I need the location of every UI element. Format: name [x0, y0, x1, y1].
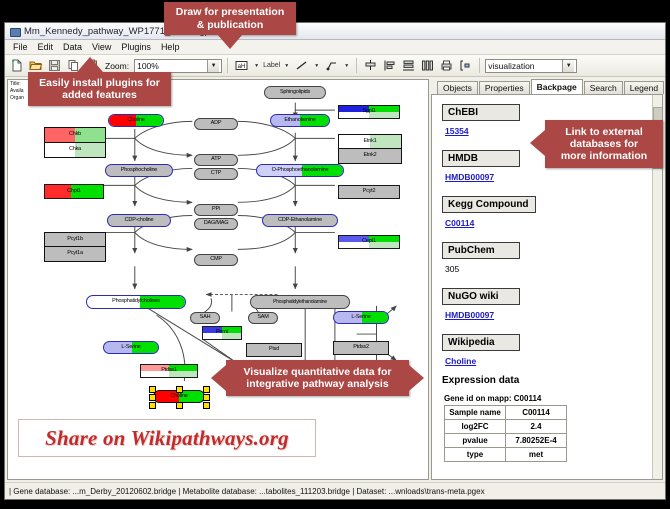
gene-id-line: Gene id on mapp: C00114 — [444, 394, 662, 403]
toolbar-separator — [356, 58, 357, 73]
node-label: Pcyt1a — [67, 251, 83, 257]
section-header-hmdb: HMDB — [442, 150, 520, 167]
selection-handle[interactable] — [203, 394, 210, 401]
menu-item-edit[interactable]: Edit — [33, 42, 59, 52]
expression-table: Sample name C00114 log2FC 2.4 pvalue 7.8… — [444, 405, 567, 462]
gene-node-pemt[interactable]: Pemt — [202, 326, 242, 340]
gene-node-ptdss1[interactable]: Ptdss1 — [140, 364, 198, 378]
metabolite-node-phosphatidylethanolamine[interactable]: Phosphatidylethanolamine — [250, 295, 350, 309]
gene-node-sgpl1[interactable]: Sgpl1 — [338, 105, 400, 119]
node-label: Ethanolamine — [284, 118, 315, 124]
gene-node-pcyt2[interactable]: Pcyt2 — [338, 185, 400, 199]
datanode-icon[interactable]: aH — [233, 57, 250, 74]
node-label: ATP — [211, 157, 221, 163]
interaction-icon[interactable] — [323, 57, 340, 74]
wikipedia-link[interactable]: Choline — [445, 356, 476, 366]
chevron-down-icon[interactable]: ▼ — [207, 60, 219, 72]
metabolite-node-sphingolipids[interactable]: Sphingolipids — [264, 86, 326, 99]
cell-value: C00114 — [506, 406, 567, 420]
section-header-pubchem: PubChem — [442, 242, 520, 259]
gene-node-ptdss2[interactable]: Ptdss2 — [333, 341, 389, 355]
menu-item-help[interactable]: Help — [156, 42, 185, 52]
callout-arrow-up-plugins — [77, 57, 103, 72]
node-label: Phosphatidylcholines — [112, 299, 160, 305]
pubchem-value: 305 — [445, 264, 459, 274]
cell-value: 7.80252E-4 — [506, 434, 567, 448]
tab-legend[interactable]: Legend — [624, 81, 664, 94]
section-header-kegg-compound: Kegg Compound — [442, 196, 536, 213]
selection-handle[interactable] — [176, 402, 183, 409]
metabolite-node-cdp-ethanolamine[interactable]: CDP-Ethanolamine — [262, 214, 338, 227]
section-header-wikipedia: Wikipedia — [442, 334, 520, 351]
status-bar: | Gene database: ...m_Derby_20120602.bri… — [5, 482, 665, 499]
node-label: Pcyt2 — [363, 189, 376, 195]
metabolite-node-phosphocholine[interactable]: Phosphocholine — [105, 164, 173, 177]
node-label: Cept1 — [362, 239, 376, 245]
metabolite-node-atp[interactable]: ATP — [194, 154, 238, 166]
selection-handle[interactable] — [203, 386, 210, 393]
distribute-icon[interactable] — [419, 57, 436, 74]
node-label: Choline — [170, 394, 187, 400]
svg-text:aH: aH — [238, 64, 246, 70]
gene-group-pcyt1[interactable]: Pcyt1b Pcyt1a — [44, 232, 106, 262]
gene-node-etnk2[interactable]: Etnk2 — [339, 149, 401, 163]
gene-node-chpt1[interactable]: Chpt1 — [44, 184, 104, 199]
visualization-value: visualization — [488, 61, 562, 71]
side-panel-tabs: Objects Properties Backpage Search Legen… — [431, 79, 663, 94]
node-label: Etnk1 — [363, 139, 376, 145]
node-label: Chka — [69, 147, 81, 153]
metabolite-node-phosphatidylcholines[interactable]: Phosphatidylcholines — [86, 295, 186, 309]
node-label: Pisd — [269, 347, 279, 353]
node-label: Chkb — [69, 132, 81, 138]
menu-item-plugins[interactable]: Plugins — [116, 42, 156, 52]
node-label: Ptdss2 — [353, 345, 369, 351]
interaction-dropdown-icon[interactable]: ▼ — [342, 58, 351, 74]
node-label: CDP-Ethanolamine — [278, 218, 322, 224]
label-dropdown-icon[interactable]: ▼ — [282, 58, 291, 74]
tab-backpage[interactable]: Backpage — [531, 79, 583, 94]
callout-arrow-right-visualize — [409, 365, 424, 391]
node-label: Chpt1 — [67, 189, 81, 195]
metabolite-node-l-serine-left[interactable]: L-Serine — [103, 341, 159, 354]
node-label: O-Phosphoethanolamine — [272, 168, 329, 174]
datanode-dropdown-icon[interactable]: ▼ — [252, 58, 261, 74]
pathway-info: Title: Availa Organ — [10, 81, 24, 102]
status-text: | Gene database: ...m_Derby_20120602.bri… — [9, 487, 485, 496]
section-header-chebi: ChEBI — [442, 104, 520, 121]
menu-item-file[interactable]: File — [8, 42, 33, 52]
metabolite-node-adp[interactable]: ADP — [194, 118, 238, 130]
node-label: CDP-choline — [125, 218, 154, 224]
pathway-info-title: Title: — [10, 81, 24, 88]
metabolite-node-cmp[interactable]: CMP — [194, 254, 238, 266]
tab-search[interactable]: Search — [584, 81, 623, 94]
gene-node-pcyt1b[interactable]: Pcyt1b — [45, 233, 105, 247]
callout-arrow-left-link — [530, 130, 545, 156]
metabolite-node-choline-top[interactable]: Choline — [108, 114, 164, 127]
table-row: Sample name C00114 — [445, 406, 567, 420]
gene-node-chkb[interactable]: Chkb — [45, 128, 105, 143]
cell-key: pvalue — [445, 434, 506, 448]
selection-handle[interactable] — [149, 394, 156, 401]
gene-node-chka[interactable]: Chka — [45, 143, 105, 158]
callout-draw-for-publication: Draw for presentation & publication — [164, 2, 296, 35]
menu-item-data[interactable]: Data — [58, 42, 87, 52]
node-label: ADP — [211, 121, 222, 127]
toolbar-separator — [479, 58, 480, 73]
gene-node-pisd[interactable]: Pisd — [246, 343, 302, 357]
node-label: Etnk2 — [363, 153, 376, 159]
node-label: L-Serine — [351, 315, 370, 321]
node-label: Ptdss1 — [161, 368, 177, 374]
chevron-down-icon[interactable]: ▼ — [562, 60, 574, 72]
callout-share-wikipathways: Share on Wikipathways.org — [18, 419, 316, 457]
metabolite-node-dag-mag[interactable]: DAG/MAG — [194, 218, 238, 230]
node-label: Phosphatidylethanolamine — [273, 300, 327, 305]
table-row: pvalue 7.80252E-4 — [445, 434, 567, 448]
selection-handle[interactable] — [176, 386, 183, 393]
node-label: Phosphocholine — [121, 168, 157, 174]
gene-node-etnk1[interactable]: Etnk1 — [339, 135, 401, 149]
pathway-info-availability: Availa — [10, 88, 24, 95]
nugo-link[interactable]: HMDB00097 — [445, 310, 494, 320]
gene-node-pcyt1a[interactable]: Pcyt1a — [45, 247, 105, 261]
node-label: Pcyt1b — [67, 237, 83, 243]
kegg-link[interactable]: C00114 — [445, 218, 474, 228]
zoom-label: Zoom: — [105, 61, 129, 71]
chebi-link[interactable]: 15354 — [445, 126, 469, 136]
menu-item-view[interactable]: View — [87, 42, 116, 52]
metabolite-node-cdp-choline[interactable]: CDP-choline — [107, 214, 171, 227]
node-label: DAG/MAG — [204, 221, 229, 227]
app-icon — [9, 26, 20, 37]
pathway-info-organism: Organ — [10, 95, 24, 102]
node-label: L-Serine — [121, 345, 140, 351]
visualization-combobox[interactable]: visualization ▼ — [485, 59, 577, 73]
cell-key: Sample name — [445, 406, 506, 420]
selection-handle[interactable] — [203, 402, 210, 409]
node-label: SAM — [257, 315, 268, 321]
share-text: Share on Wikipathways.org — [45, 426, 289, 451]
stack-icon[interactable] — [400, 57, 417, 74]
metabolite-node-sam[interactable]: SAM — [248, 312, 278, 324]
zoom-value: 100% — [137, 61, 207, 71]
metabolite-node-l-serine-right[interactable]: L-Serine — [333, 311, 389, 324]
node-label: Sgpl1 — [362, 109, 375, 115]
metabolite-node-ppi[interactable]: PPi — [194, 204, 238, 216]
align-left-icon[interactable] — [381, 57, 398, 74]
align-icon[interactable] — [362, 57, 379, 74]
cell-key: type — [445, 448, 506, 462]
metabolite-node-o-phosphoethanolamine[interactable]: O-Phosphoethanolamine — [256, 164, 344, 177]
callout-install-plugins: Easily install plugins for added feature… — [28, 72, 171, 106]
section-header-nugo-wiki: NuGO wiki — [442, 288, 520, 305]
tab-properties[interactable]: Properties — [479, 81, 530, 94]
node-label: Choline — [127, 118, 144, 124]
table-row: log2FC 2.4 — [445, 420, 567, 434]
zoom-combobox[interactable]: 100% ▼ — [134, 59, 222, 73]
metabolite-node-ctp[interactable]: CTP — [194, 168, 238, 180]
callout-arrow-left-visualize — [211, 365, 226, 391]
bracket-icon[interactable] — [457, 57, 474, 74]
node-label: Pemt — [216, 330, 228, 336]
title-bar: Mm_Kennedy_pathway_WP1771_45176.gpml — [5, 23, 665, 40]
new-file-icon[interactable] — [8, 57, 25, 74]
cell-value: met — [506, 448, 567, 462]
gene-group-chk[interactable]: Chkb Chka — [44, 127, 106, 158]
selection-handle[interactable] — [149, 386, 156, 393]
node-label: Sphingolipids — [280, 90, 310, 96]
gene-node-cept1[interactable]: Cept1 — [338, 235, 400, 249]
table-row: type met — [445, 448, 567, 462]
toolbar-separator — [227, 58, 228, 73]
print-icon[interactable] — [438, 57, 455, 74]
menu-bar: File Edit Data View Plugins Help — [5, 40, 665, 55]
selection-handle[interactable] — [149, 402, 156, 409]
node-label: CTP — [211, 171, 221, 177]
node-label: CMP — [210, 257, 222, 263]
screenshot-root: Mm_Kennedy_pathway_WP1771_45176.gpml Fil… — [0, 0, 670, 509]
callout-visualize-quantitative-data: Visualize quantitative data for integrat… — [226, 360, 409, 396]
line-dropdown-icon[interactable]: ▼ — [312, 58, 321, 74]
selected-node-group[interactable]: Choline — [148, 385, 210, 407]
node-label: PPi — [212, 207, 220, 213]
cell-key: log2FC — [445, 420, 506, 434]
callout-link-external-databases: Link to external databases for more info… — [545, 120, 663, 168]
expression-data-title: Expression data — [442, 375, 662, 386]
label-icon[interactable]: Label — [263, 62, 280, 69]
callout-arrow-down-draw — [217, 34, 243, 49]
line-icon[interactable] — [293, 57, 310, 74]
metabolite-node-ethanolamine-top[interactable]: Ethanolamine — [270, 114, 330, 127]
cell-value: 2.4 — [506, 420, 567, 434]
metabolite-node-sah[interactable]: SAH — [190, 312, 220, 324]
node-label: SAH — [200, 315, 211, 321]
tab-objects[interactable]: Objects — [437, 81, 478, 94]
gene-group-etnk[interactable]: Etnk1 Etnk2 — [338, 134, 402, 164]
hmdb-link[interactable]: HMDB00097 — [445, 172, 494, 182]
